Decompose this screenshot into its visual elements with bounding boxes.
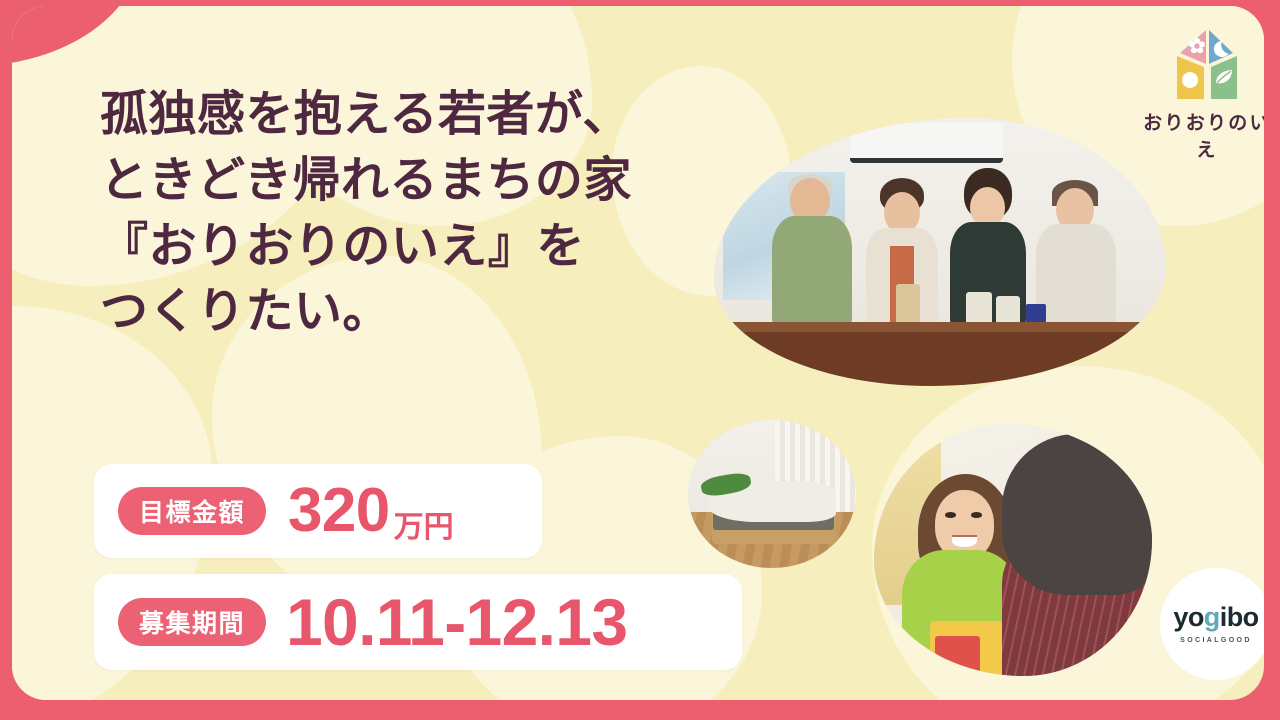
house-mark	[1159, 28, 1255, 102]
oriori-logo: おりおりのいえ	[1134, 28, 1264, 144]
goal-amount-label: 目標金額	[118, 487, 266, 535]
campaign-period-card: 募集期間 10.11-12.13	[94, 574, 742, 670]
photo-group	[714, 118, 1166, 386]
person-figure	[1044, 180, 1120, 332]
person-eye	[971, 512, 982, 518]
yogibo-word-g: g	[1204, 602, 1220, 632]
air-conditioner	[850, 123, 1004, 163]
person-figure	[1002, 434, 1152, 595]
goal-amount-unit: 万円	[394, 502, 454, 546]
photo-room	[688, 420, 856, 568]
oriori-logo-text: おりおりのいえ	[1134, 108, 1264, 162]
goal-amount-value: 320	[288, 480, 390, 542]
yogibo-word-post: ibo	[1220, 602, 1259, 632]
yogibo-wordmark: yogibo	[1173, 604, 1258, 631]
counter-edge	[714, 322, 1166, 333]
sun-icon	[1182, 72, 1198, 88]
person-eye	[945, 512, 956, 518]
main-panel: 孤独感を抱える若者が、 ときどき帰れるまちの家 『おりおりのいえ』を つくりたい…	[12, 6, 1264, 700]
person-mouth	[952, 535, 977, 547]
page-title: 孤独感を抱える若者が、 ときどき帰れるまちの家 『おりおりのいえ』を つくりたい…	[100, 82, 632, 345]
kitchen-counter	[714, 332, 1166, 386]
yogibo-logo: yogibo SOCIALGOOD	[1160, 568, 1264, 680]
campaign-period-label: 募集期間	[118, 598, 266, 646]
goal-amount-card: 目標金額 320 万円	[94, 464, 542, 558]
table-object	[935, 636, 979, 676]
person-figure	[776, 172, 852, 332]
yogibo-word-pre: yo	[1173, 602, 1203, 632]
campaign-period-value: 10.11-12.13	[286, 589, 627, 655]
house-icon	[1159, 28, 1255, 102]
yogibo-tagline: SOCIALGOOD	[1180, 637, 1252, 644]
photo-talk	[874, 424, 1152, 676]
poster-canvas: 孤独感を抱える若者が、 ときどき帰れるまちの家 『おりおりのいえ』を つくりたい…	[0, 0, 1280, 720]
